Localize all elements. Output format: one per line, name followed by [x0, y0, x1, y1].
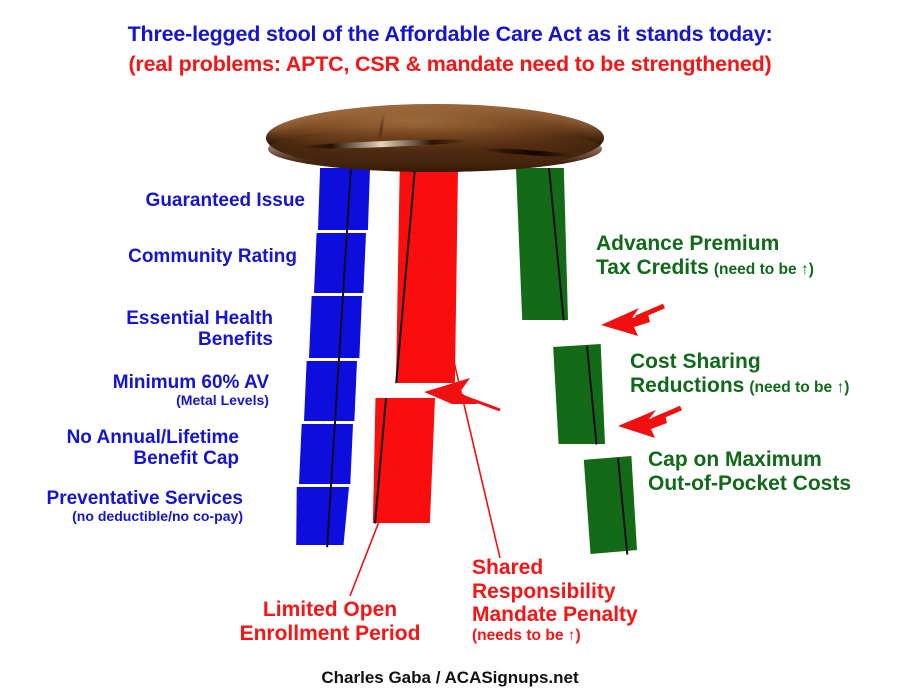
label-mandate-line2: Responsibility	[472, 580, 702, 604]
label-advance-premium-tax-credits: Advance Premium Tax Credits(need to be ↑…	[596, 232, 896, 279]
label-limited-open-enrollment: Limited Open Enrollment Period	[230, 598, 430, 645]
footer-credit: Charles Gaba / ACASignups.net	[0, 668, 900, 688]
label-no-annual-lifetime-cap-line2: Benefit Cap	[0, 448, 239, 469]
page-subtitle: (real problems: APTC, CSR & mandate need…	[0, 52, 900, 77]
red-leg-segment-upper	[396, 168, 458, 383]
red-leg-segment-lower	[371, 398, 435, 523]
blue-leg-segment-5	[299, 424, 353, 484]
green-leg-segment-top	[516, 168, 568, 320]
arrow-to-aptc-gap	[601, 306, 664, 336]
label-cap-oop-line2: Out-of-Pocket Costs	[648, 472, 900, 496]
green-leg-segment-middle	[551, 344, 605, 444]
label-shared-responsibility-mandate: Shared Responsibility Mandate Penalty (n…	[472, 556, 702, 645]
label-csr-sub: (need to be ↑)	[749, 379, 849, 396]
label-guaranteed-issue: Guaranteed Issue	[0, 190, 305, 211]
arrow-to-csr-gap	[618, 408, 681, 438]
label-aptc-line1: Advance Premium	[596, 232, 896, 256]
label-guaranteed-issue-text: Guaranteed Issue	[146, 190, 305, 211]
label-essential-health-benefits-line1: Essential Health	[0, 308, 273, 329]
label-aptc-line2-wrap: Tax Credits(need to be ↑)	[596, 256, 896, 280]
green-leg-segment-bottom	[581, 456, 637, 554]
blue-leg-segment-1	[318, 168, 370, 230]
label-preventative-services: Preventative Services (no deductible/no …	[0, 488, 243, 525]
label-cap-on-maximum-oop: Cap on Maximum Out-of-Pocket Costs	[648, 448, 900, 495]
label-no-annual-lifetime-cap-line1: No Annual/Lifetime	[0, 427, 239, 448]
label-preventative-services-line1: Preventative Services	[0, 488, 243, 509]
label-minimum-av-line1: Minimum 60% AV	[0, 372, 269, 393]
label-minimum-av: Minimum 60% AV (Metal Levels)	[0, 372, 269, 409]
label-preventative-services-sub: (no deductible/no co-pay)	[0, 509, 243, 525]
blue-leg-segment-2	[314, 233, 366, 293]
label-community-rating: Community Rating	[0, 246, 297, 267]
label-open-enrollment-line1: Limited Open	[230, 598, 430, 622]
label-csr-line1: Cost Sharing	[630, 350, 900, 374]
label-csr-line2: Reductions	[630, 374, 744, 397]
label-aptc-sub: (need to be ↑)	[714, 261, 814, 278]
label-community-rating-text: Community Rating	[128, 246, 297, 267]
blue-leg-segment-4	[304, 361, 357, 421]
page-title: Three-legged stool of the Affordable Car…	[0, 22, 900, 47]
label-no-annual-lifetime-cap: No Annual/Lifetime Benefit Cap	[0, 427, 239, 470]
label-minimum-av-sub: (Metal Levels)	[0, 393, 269, 409]
label-aptc-line2: Tax Credits	[596, 256, 709, 279]
label-cap-oop-line1: Cap on Maximum	[648, 448, 900, 472]
infographic-canvas: Three-legged stool of the Affordable Car…	[0, 0, 900, 700]
label-csr-line2-wrap: Reductions(need to be ↑)	[630, 374, 900, 398]
label-cost-sharing-reductions: Cost Sharing Reductions(need to be ↑)	[630, 350, 900, 397]
blue-leg-segment-6	[294, 487, 349, 545]
stool-seat	[266, 104, 604, 172]
blue-leg-segment-3	[309, 296, 362, 358]
label-essential-health-benefits-line2: Benefits	[0, 329, 273, 350]
label-mandate-line1: Shared	[472, 556, 702, 580]
label-mandate-line3: Mandate Penalty	[472, 603, 702, 627]
label-essential-health-benefits: Essential Health Benefits	[0, 308, 273, 351]
label-mandate-sub: (needs to be ↑)	[472, 627, 702, 645]
label-open-enrollment-line2: Enrollment Period	[230, 622, 430, 646]
